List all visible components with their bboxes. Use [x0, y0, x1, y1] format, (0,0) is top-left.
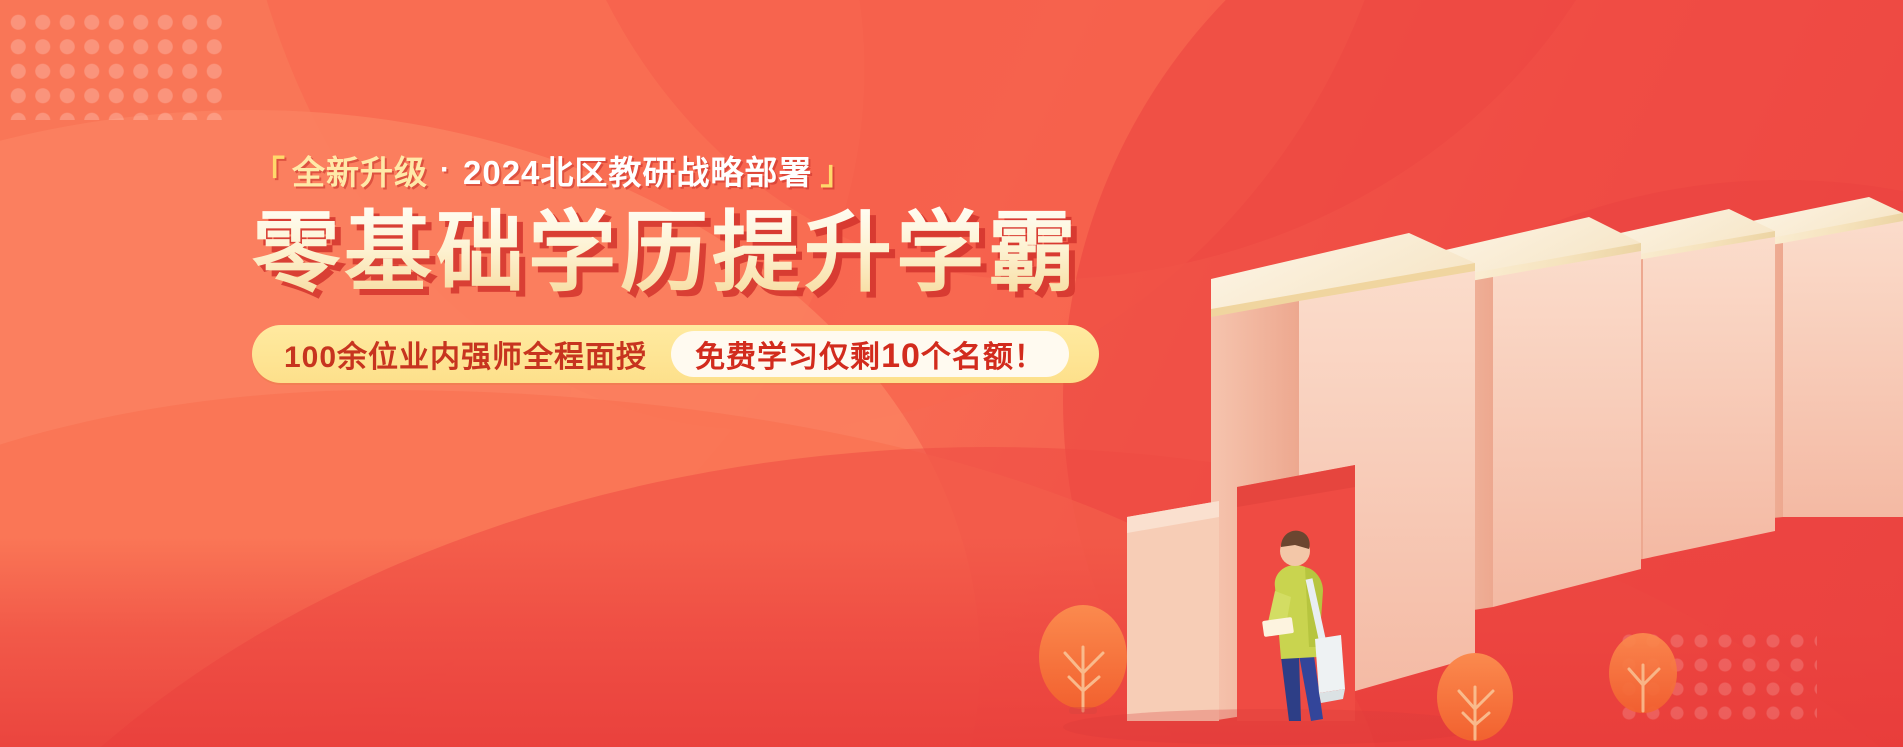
seats-prefix: 免费学习仅剩 [695, 341, 881, 374]
arch-shadow [1063, 709, 1483, 745]
page-title: 零基础学历提升学霸班 [252, 206, 1072, 299]
tree-right [1437, 653, 1513, 741]
tagline-left-text: 100余位业内强师全程面授 [284, 332, 647, 376]
bracket-open-icon: 「 [252, 146, 286, 194]
promo-banner: 「 全新升级 · 2024北区教研战略部署 」 零基础学历提升学霸班 100余位… [0, 0, 1903, 747]
eyebrow-line: 「 全新升级 · 2024北区教研战略部署 」 [252, 146, 1072, 194]
eyebrow-rest: 2024北区教研战略部署 [463, 146, 812, 194]
dot-grid-icon [6, 10, 226, 120]
seats-count: 10 [881, 337, 921, 375]
seats-badge: 免费学习仅剩10个名额！ [671, 331, 1069, 377]
seats-suffix: 个名额！ [921, 341, 1045, 374]
bracket-close-icon: 」 [820, 146, 854, 194]
separator-dot-icon: · [428, 153, 463, 187]
tagline-pill: 100余位业内强师全程面授 免费学习仅剩10个名额！ [252, 325, 1099, 383]
eyebrow-highlight: 全新升级 [292, 146, 428, 194]
tree-far-right [1609, 633, 1677, 713]
banner-copy: 「 全新升级 · 2024北区教研战略部署 」 零基础学历提升学霸班 100余位… [252, 146, 1072, 383]
seats-badge-text: 免费学习仅剩10个名额！ [695, 332, 1045, 376]
tree-left [1039, 605, 1127, 714]
